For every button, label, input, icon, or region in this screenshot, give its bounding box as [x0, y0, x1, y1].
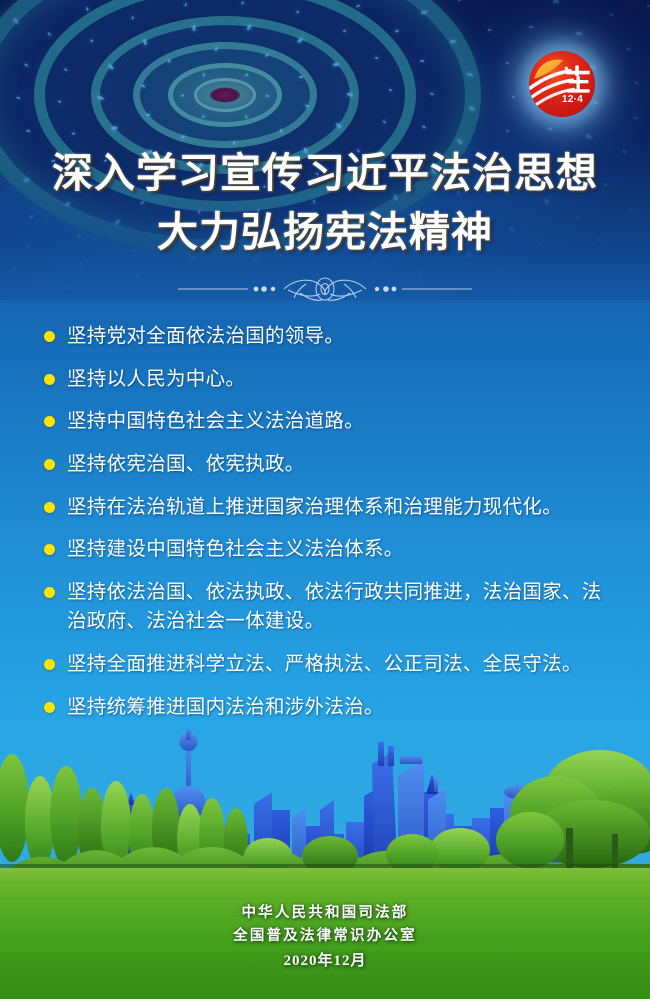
bullet-dot-icon: [44, 374, 55, 385]
bullet-dot-icon: [44, 659, 55, 670]
title-line-2: 大力弘扬宪法精神: [0, 207, 650, 258]
key-point-item: 坚持以人民为中心。: [44, 365, 616, 395]
bullet-dot-icon: [44, 416, 55, 427]
key-point-item: 坚持全面推进科学立法、严格执法、公正司法、全民守法。: [44, 650, 616, 680]
bullet-dot-icon: [44, 587, 55, 598]
footer-line-1: 中华人民共和国司法部: [0, 902, 650, 925]
title-line-1: 深入学习宣传习近平法治思想: [0, 148, 650, 199]
key-point-text: 坚持依宪治国、依宪执政。: [67, 450, 616, 480]
key-point-text: 坚持党对全面依法治国的领导。: [67, 322, 616, 352]
key-point-text: 坚持以人民为中心。: [67, 365, 616, 395]
key-point-item: 坚持在法治轨道上推进国家治理体系和治理能力现代化。: [44, 493, 616, 523]
poster-title: 深入学习宣传习近平法治思想 大力弘扬宪法精神: [0, 148, 650, 258]
svg-text:12·4: 12·4: [562, 94, 583, 105]
footer-line-3: 2020年12月: [0, 949, 650, 973]
key-point-item: 坚持中国特色社会主义法治道路。: [44, 407, 616, 437]
key-point-text: 坚持全面推进科学立法、严格执法、公正司法、全民守法。: [67, 650, 616, 680]
poster-footer: 中华人民共和国司法部 全国普及法律常识办公室 2020年12月: [0, 902, 650, 973]
key-point-item: 坚持依宪治国、依宪执政。: [44, 450, 616, 480]
key-point-text: 坚持统筹推进国内法治和涉外法治。: [67, 693, 616, 723]
bullet-dot-icon: [44, 331, 55, 342]
logo-svg: 12·4: [529, 51, 595, 117]
bullet-dot-icon: [44, 702, 55, 713]
key-point-item: 坚持党对全面依法治国的领导。: [44, 322, 616, 352]
bullet-dot-icon: [44, 544, 55, 555]
key-point-item: 坚持建设中国特色社会主义法治体系。: [44, 535, 616, 565]
key-point-item: 坚持统筹推进国内法治和涉外法治。: [44, 693, 616, 723]
ornament-divider: [0, 272, 650, 306]
key-point-text: 坚持建设中国特色社会主义法治体系。: [67, 535, 616, 565]
key-point-text: 坚持依法治国、依法执政、依法行政共同推进，法治国家、法治政府、法治社会一体建设。: [67, 578, 616, 637]
key-point-text: 坚持在法治轨道上推进国家治理体系和治理能力现代化。: [67, 493, 616, 523]
bullet-dot-icon: [44, 459, 55, 470]
ornament-svg: [0, 272, 650, 306]
footer-line-2: 全国普及法律常识办公室: [0, 925, 650, 948]
bullet-dot-icon: [44, 502, 55, 513]
key-point-text: 坚持中国特色社会主义法治道路。: [67, 407, 616, 437]
key-point-item: 坚持依法治国、依法执政、依法行政共同推进，法治国家、法治政府、法治社会一体建设。: [44, 578, 616, 637]
poster-root: 12·4 深入学习宣传习近平法治思想 大力弘扬宪法精神: [0, 0, 650, 999]
national-constitution-day-logo[interactable]: 12·4: [529, 51, 595, 117]
